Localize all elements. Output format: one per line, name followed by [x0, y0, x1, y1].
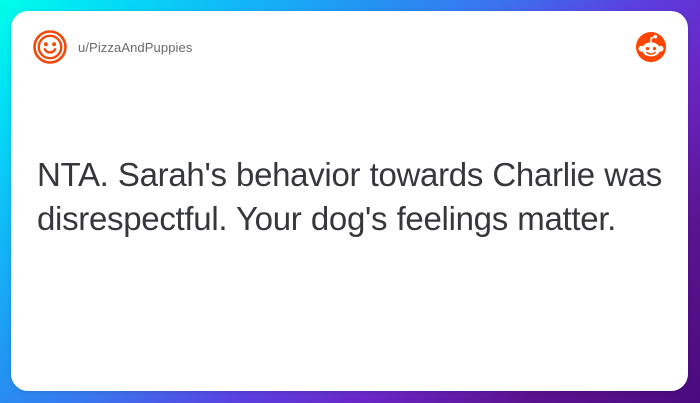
post-body: NTA. Sarah's behavior towards Charlie wa… [37, 153, 662, 241]
reddit-post-card: u/PizzaAndPuppies [11, 11, 688, 391]
screenshot-root: u/PizzaAndPuppies [0, 0, 700, 403]
author-username: u/PizzaAndPuppies [78, 40, 192, 55]
post-author[interactable]: u/PizzaAndPuppies [33, 30, 192, 64]
post-text: NTA. Sarah's behavior towards Charlie wa… [37, 153, 662, 241]
reddit-snoo-icon[interactable] [636, 32, 666, 62]
post-header: u/PizzaAndPuppies [11, 11, 688, 83]
smiley-face-avatar-icon[interactable] [33, 30, 67, 64]
